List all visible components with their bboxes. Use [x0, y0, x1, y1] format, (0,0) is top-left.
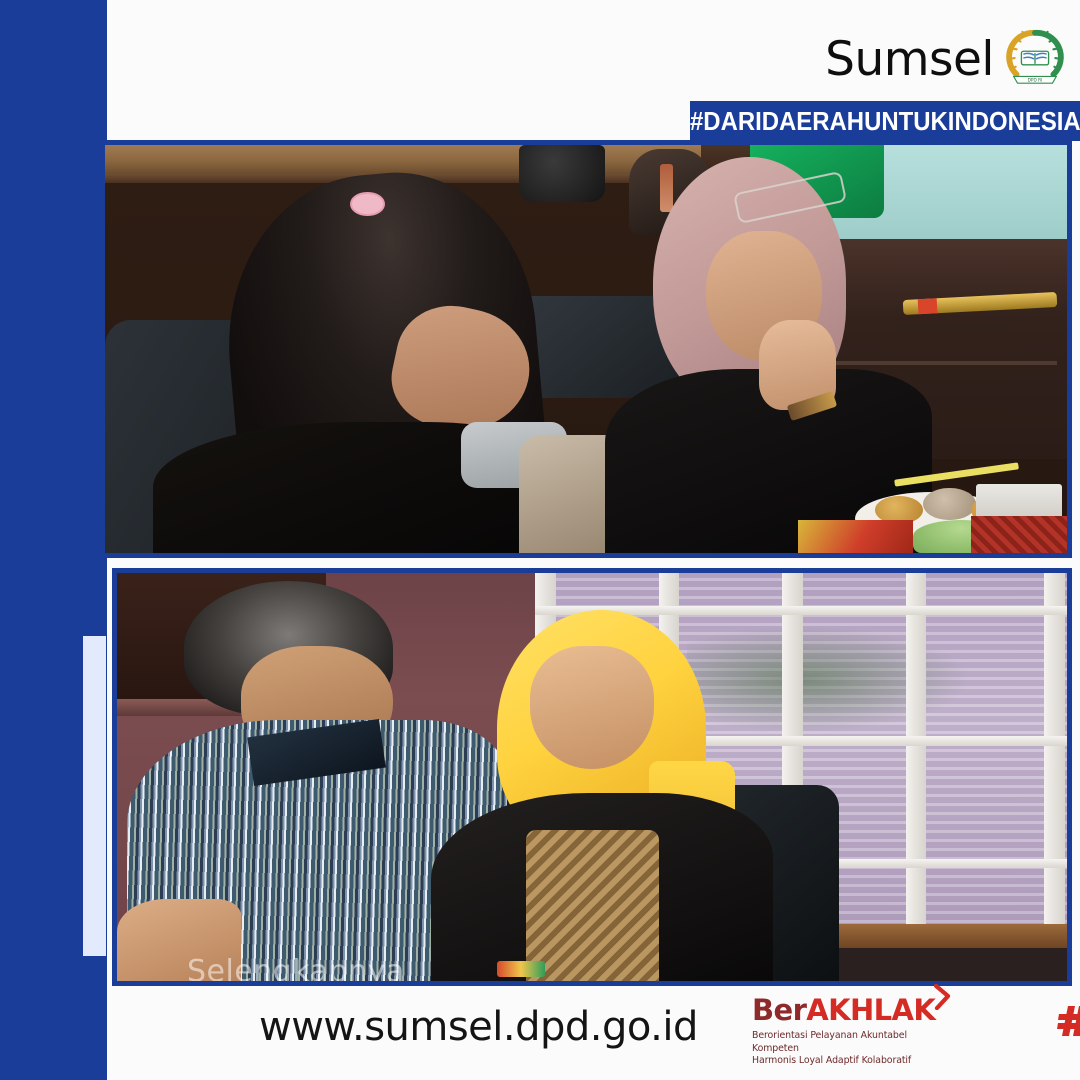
website-url[interactable]: www.sumsel.dpd.go.id — [259, 1004, 698, 1050]
selengkapnya-overlay-text: Selengkapnya — [187, 954, 405, 986]
hashtag-text: #DARIDAERAHUNTUKINDONESIA — [690, 106, 1080, 137]
gold-embroidery-panel — [526, 830, 659, 981]
svg-text:DPD RI: DPD RI — [1028, 78, 1043, 84]
photo-bottom: Selengkapnya — [112, 568, 1072, 986]
brand-wordmark: Sumsel — [825, 36, 994, 83]
header-brand: Sumsel — [825, 28, 1066, 90]
window-mullion-5 — [1044, 573, 1065, 932]
outdoor-greenery — [687, 626, 972, 732]
social-media-poster: Sumsel — [0, 0, 1080, 1080]
berakhlak-tagline-line1: Berorientasi Pelayanan Akuntabel Kompete… — [752, 1030, 942, 1055]
bangga-melayani-bangsa-logo: bangga melayani bangsa — [1057, 994, 1080, 1048]
beaded-bracelet — [497, 961, 545, 977]
footer: www.sumsel.dpd.go.id BerAKHLAK Berorient… — [107, 986, 1080, 1080]
berakhlak-tagline: Berorientasi Pelayanan Akuntabel Kompete… — [752, 1030, 942, 1068]
black-bag — [519, 145, 606, 202]
photo-top — [100, 140, 1072, 558]
berakhlak-tagline-line2: Harmonis Loyal Adaptif Kolaboratif — [752, 1055, 942, 1068]
berakhlak-prefix: Ber — [752, 993, 806, 1027]
berakhlak-suffix: AKHLAK — [806, 993, 935, 1027]
snack-box — [798, 520, 913, 553]
hashtag-banner: #DARIDAERAHUNTUKINDONESIA — [690, 101, 1080, 141]
berakhlak-logo: BerAKHLAK Berorientasi Pelayanan Akuntab… — [752, 996, 942, 1068]
berakhlak-wordmark: BerAKHLAK — [752, 996, 935, 1025]
dpd-ri-seal-icon: DPD RI — [1004, 28, 1066, 90]
bag-zipper — [660, 164, 673, 211]
window-mullion-4 — [906, 573, 927, 932]
photo-bottom-scene — [117, 573, 1067, 981]
desk-surface — [105, 145, 701, 174]
swoosh-icon — [934, 984, 951, 1010]
snack-item-b — [923, 488, 976, 521]
left-accent-bar — [83, 636, 106, 956]
batik-cloth — [971, 516, 1067, 553]
cabinet-seam — [827, 361, 1058, 365]
woman-yellow-hijab-face — [530, 646, 654, 768]
photo-top-scene — [105, 145, 1067, 553]
hashtag-icon — [1057, 1004, 1080, 1038]
